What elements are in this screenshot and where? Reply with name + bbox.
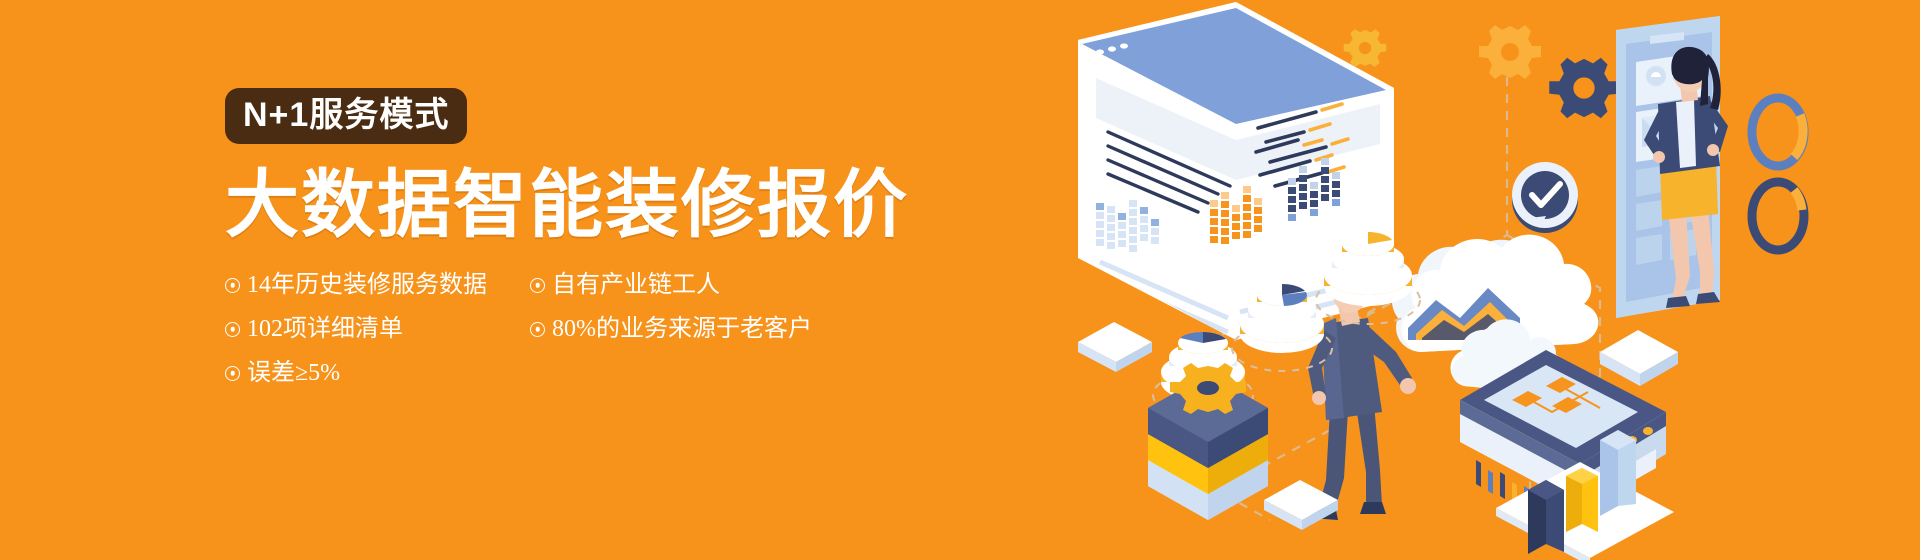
list-item: 误差≥5% [225, 358, 530, 388]
circle-dot-icon [530, 322, 545, 337]
page-title: 大数据智能装修报价 [225, 166, 985, 244]
circle-dot-icon [530, 278, 545, 293]
bullet-col-right: 80%的业务来源于老客户 [530, 314, 835, 344]
list-item-label: 102项详细清单 [247, 314, 403, 344]
bullet-row: 误差≥5% [225, 358, 845, 388]
circle-dot-icon [225, 366, 240, 381]
isometric-big-data-illustration [1060, 0, 1920, 560]
bullet-col-left: 102项详细清单 [225, 314, 530, 344]
circle-dot-icon [225, 278, 240, 293]
banner-text-block: N+1服务模式 大数据智能装修报价 14年历史装修服务数据 自有产业链工人 [225, 88, 985, 402]
bullet-col-right: 自有产业链工人 [530, 270, 835, 300]
list-item: 自有产业链工人 [530, 270, 835, 300]
list-item: 80%的业务来源于老客户 [530, 314, 835, 344]
list-item: 14年历史装修服务数据 [225, 270, 530, 300]
floating-tile-left [1078, 322, 1152, 372]
list-item: 102项详细清单 [225, 314, 530, 344]
bullet-row: 102项详细清单 80%的业务来源于老客户 [225, 314, 845, 344]
checkmark-badge [1512, 162, 1578, 233]
bullet-col-left: 14年历史装修服务数据 [225, 270, 530, 300]
list-item-label: 14年历史装修服务数据 [247, 270, 487, 300]
list-item-label: 自有产业链工人 [552, 270, 720, 300]
circle-dot-icon [225, 322, 240, 337]
gear-navy [1549, 58, 1618, 118]
donut-ring-upper [1752, 98, 1804, 166]
gear-small-top [1344, 29, 1387, 67]
bullet-row: 14年历史装修服务数据 自有产业链工人 [225, 270, 845, 300]
gear-orange [1479, 25, 1541, 79]
bullet-col-left: 误差≥5% [225, 358, 530, 388]
donut-ring-lower [1752, 182, 1804, 250]
floating-tile-right [1600, 330, 1678, 386]
list-item-label: 误差≥5% [247, 358, 340, 388]
feature-bullet-list: 14年历史装修服务数据 自有产业链工人 102项详细清单 [225, 270, 845, 388]
list-item-label: 80%的业务来源于老客户 [552, 314, 812, 344]
promo-banner: N+1服务模式 大数据智能装修报价 14年历史装修服务数据 自有产业链工人 [0, 0, 1920, 560]
service-mode-badge: N+1服务模式 [225, 88, 467, 144]
